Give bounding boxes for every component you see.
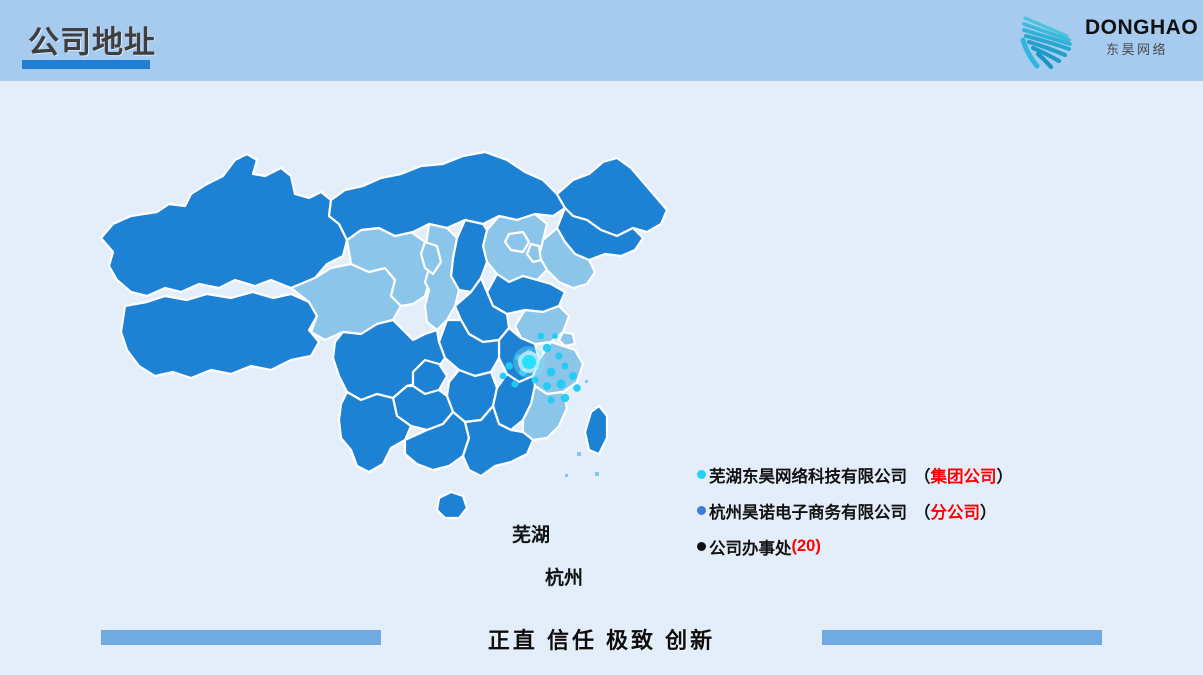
- island-dot-2: [595, 472, 599, 476]
- legend-paren-close: ）: [997, 463, 1014, 487]
- legend-paren-close: ）: [980, 499, 997, 523]
- legend-bullet-black-icon: [697, 542, 706, 551]
- legend-bullet-blue-icon: [697, 506, 706, 515]
- title-underline: [22, 60, 150, 69]
- wuhu-marker[interactable]: [513, 346, 545, 378]
- brand-logo: DONGHAO 东昊网络: [1015, 10, 1187, 72]
- office-dot: [511, 380, 518, 387]
- page-title: 公司地址: [28, 17, 156, 62]
- legend-label: 杭州昊诺电子商务有限公司: [709, 499, 907, 523]
- logo-text: DONGHAO 东昊网络: [1085, 16, 1189, 59]
- china-map[interactable]: 芜湖 杭州: [95, 120, 735, 620]
- office-dot: [556, 379, 565, 388]
- office-dot: [552, 333, 558, 339]
- legend-bullet-cyan-icon: [697, 470, 706, 479]
- office-dot: [573, 384, 581, 392]
- island-dot-1: [577, 452, 581, 456]
- office-dot: [505, 362, 513, 370]
- china-map-svg[interactable]: [95, 120, 735, 620]
- office-dot: [547, 396, 554, 403]
- fan-feather-icon: [1015, 10, 1087, 72]
- page-header: 公司地址 DONGHAO 东昊网络: [0, 0, 1203, 81]
- office-dot: [569, 372, 577, 380]
- office-dot: [543, 382, 551, 390]
- office-dot: [538, 333, 545, 340]
- province-hainan: [437, 492, 467, 518]
- office-dot: [555, 352, 562, 359]
- office-dot: [543, 344, 551, 352]
- legend-item-group-company: 芜湖东昊网络科技有限公司 （ 集团公司 ）: [697, 462, 1117, 487]
- legend-paren-open: （: [914, 499, 931, 523]
- logo-subtitle: 东昊网络: [1085, 41, 1189, 59]
- province-shanghai: [559, 332, 575, 346]
- legend-item-offices: 公司办事处 (20): [697, 534, 1117, 559]
- office-dot: [562, 363, 569, 370]
- legend: 芜湖东昊网络科技有限公司 （ 集团公司 ） 杭州昊诺电子商务有限公司 （ 分公司…: [697, 462, 1117, 570]
- legend-label: 芜湖东昊网络科技有限公司: [709, 463, 907, 487]
- province-xinjiang: [101, 154, 347, 296]
- footer-slogan: 正直 信任 极致 创新: [0, 623, 1203, 655]
- island-dot-3: [565, 474, 568, 477]
- province-tibet: [121, 292, 319, 378]
- legend-tag: (20): [792, 537, 821, 556]
- logo-wordmark: DONGHAO: [1085, 16, 1189, 40]
- city-label-wuhu: 芜湖: [512, 520, 550, 547]
- office-dot: [500, 373, 507, 380]
- office-dot: [547, 368, 556, 377]
- province-taiwan: [585, 406, 607, 454]
- legend-tag: 分公司: [931, 499, 981, 523]
- legend-tag: 集团公司: [931, 463, 997, 487]
- island-dot-4: [585, 380, 588, 383]
- legend-item-branch-company: 杭州昊诺电子商务有限公司 （ 分公司 ）: [697, 498, 1117, 523]
- legend-label: 公司办事处: [709, 535, 792, 559]
- legend-paren-open: （: [914, 463, 931, 487]
- city-label-hangzhou: 杭州: [545, 563, 583, 590]
- office-dot: [561, 394, 569, 402]
